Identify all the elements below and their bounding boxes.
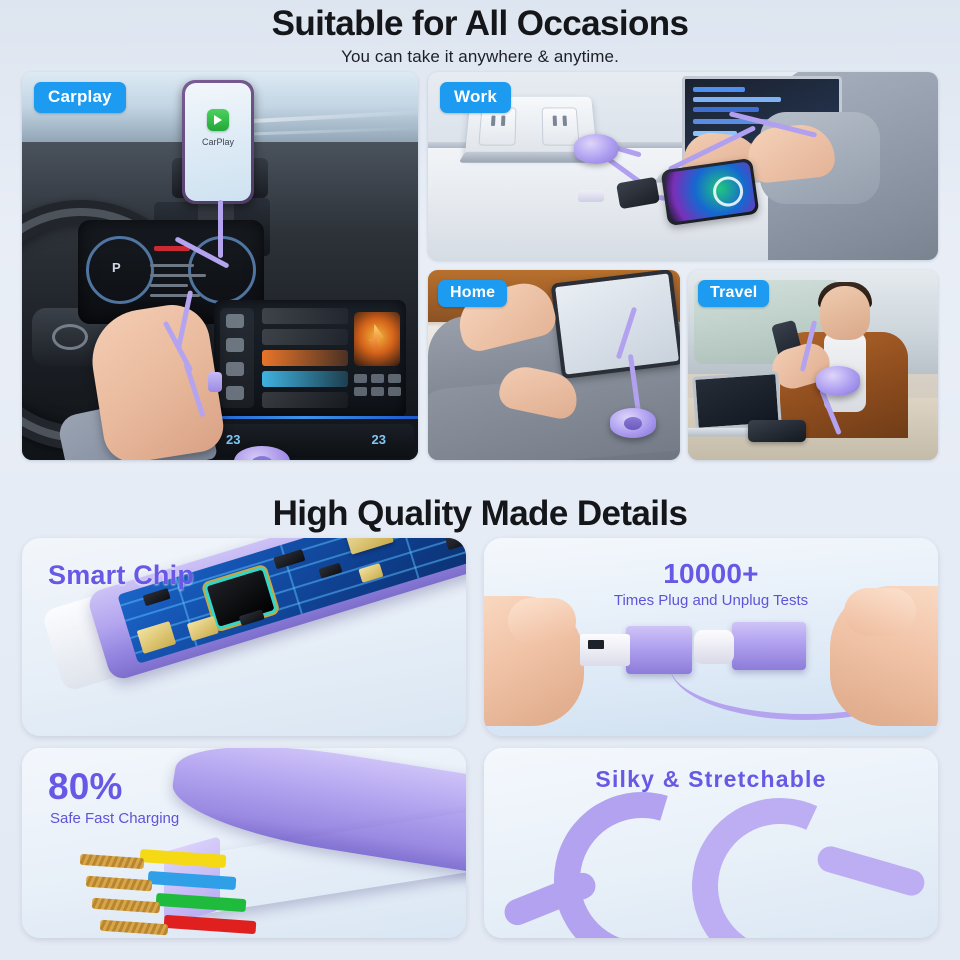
usb-c-connector-icon [694, 630, 734, 664]
face [820, 286, 870, 340]
display-menu-item [262, 350, 348, 366]
carplay-icon [207, 109, 229, 131]
display-icon [226, 386, 244, 400]
gear-indicator: P [112, 260, 121, 275]
car-logo [52, 324, 88, 350]
fast-charging-caption: Safe Fast Charging [50, 810, 179, 827]
card-silky-stretchable[interactable]: Silky & Stretchable [484, 748, 938, 938]
display-button [371, 374, 384, 383]
traveler [780, 288, 908, 438]
cluster-readout-row [150, 294, 200, 297]
occasions-heading-block: Suitable for All Occasions You can take … [0, 0, 960, 67]
usb-a-connector-icon [580, 634, 630, 666]
wire-red [164, 915, 257, 934]
fast-charging-percent: 80% [48, 766, 123, 808]
wire-blue-copper [86, 876, 153, 892]
section-quality: High Quality Made Details [0, 482, 960, 533]
retractable-reel [610, 408, 656, 438]
display-icon [226, 362, 244, 376]
power-socket [542, 107, 580, 145]
screen-content-bar [693, 87, 745, 92]
display-button [388, 374, 401, 383]
gold-pad [137, 621, 177, 654]
retractable-reel [574, 134, 618, 164]
magsafe-ring-icon [711, 175, 745, 209]
usb-a-housing [626, 626, 692, 674]
smd-component [445, 538, 466, 550]
plug-tests-caption: Times Plug and Unplug Tests [484, 592, 938, 609]
power-bank [748, 420, 806, 442]
wire-green-copper [92, 898, 161, 914]
badge-travel: Travel [698, 280, 769, 307]
display-button [371, 387, 384, 396]
display-menu-list [262, 308, 348, 413]
retractable-reel [816, 366, 860, 396]
display-menu-item [262, 329, 348, 345]
phone-screen: CarPlay [185, 83, 251, 201]
tile-home[interactable]: Home [428, 270, 680, 460]
cluster-readout-row [150, 264, 194, 267]
display-icon [226, 338, 244, 352]
wire-yellow-copper [80, 854, 145, 869]
carplay-label: CarPlay [185, 137, 251, 147]
badge-home: Home [438, 280, 507, 307]
page-subtitle: You can take it anywhere & anytime. [0, 47, 960, 67]
usb-c-housing [732, 622, 806, 670]
circuit-board [117, 538, 466, 664]
center-console-display [214, 300, 406, 418]
tile-travel[interactable]: Travel [688, 270, 938, 460]
temperature-right: 23 [372, 432, 386, 447]
silky-stretchable-title: Silky & Stretchable [484, 766, 938, 793]
power-socket [478, 107, 516, 145]
display-button [388, 387, 401, 396]
cable-connector [208, 372, 222, 392]
display-button [354, 374, 367, 383]
card-plug-tests[interactable]: 10000+ Times Plug and Unplug Tests [484, 538, 938, 736]
display-menu-item [262, 392, 348, 408]
smart-chip-title: Smart Chip [48, 560, 194, 591]
display-button-grid [354, 374, 400, 408]
cable-segment [218, 200, 223, 258]
screen-content-bar [693, 107, 759, 112]
tile-carplay[interactable]: Carplay P [22, 72, 418, 460]
cluster-readout-row [150, 284, 188, 287]
temperature-left: 23 [226, 432, 240, 447]
section-title-quality: High Quality Made Details [0, 496, 960, 533]
quality-heading-block: High Quality Made Details [0, 482, 960, 533]
display-button [354, 387, 367, 396]
display-menu-item [262, 371, 348, 387]
car-interior-photo: P CarPlay [22, 72, 418, 460]
card-fast-charging[interactable]: 80% Safe Fast Charging [22, 748, 466, 938]
tablet-device [551, 270, 680, 379]
card-smart-chip[interactable]: Smart Chip [22, 538, 466, 736]
climate-control-panel: 23 23 [198, 424, 414, 458]
section-occasions: Suitable for All Occasions You can take … [0, 0, 960, 67]
display-menu-item [262, 308, 348, 324]
cluster-alert-bar [154, 246, 190, 251]
page-title: Suitable for All Occasions [0, 6, 960, 43]
album-artwork [354, 312, 400, 366]
phone-screen [664, 161, 756, 222]
badge-carplay: Carplay [34, 82, 126, 113]
display-icon [226, 314, 244, 328]
plug-tests-count: 10000+ [484, 558, 938, 590]
cluster-readout-row [150, 274, 206, 277]
tile-work[interactable]: Work [428, 72, 938, 260]
smartphone: CarPlay [182, 80, 254, 204]
screen-content-bar [693, 97, 781, 102]
cable-connector [578, 190, 604, 202]
badge-work: Work [440, 82, 511, 113]
wire-red-copper [100, 920, 169, 936]
